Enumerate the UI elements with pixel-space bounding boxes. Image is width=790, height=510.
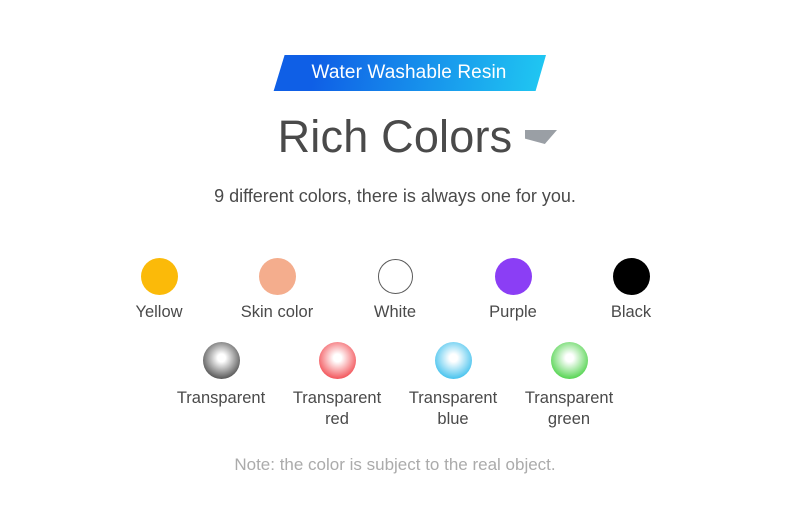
solid-colors-row: Yellow Skin color White Purple Black: [0, 258, 790, 323]
color-label: Yellow: [135, 302, 182, 323]
color-dot-black: [613, 258, 650, 295]
color-label: Transparent green: [525, 388, 613, 430]
color-dot-transparent-red: [319, 342, 356, 379]
color-swatch-skin-color[interactable]: Skin color: [218, 258, 336, 323]
color-dot-transparent-green: [551, 342, 588, 379]
color-dot-skin-color: [259, 258, 296, 295]
color-dot-purple: [495, 258, 532, 295]
color-label: Transparent red: [293, 388, 381, 430]
color-label: Transparent blue: [409, 388, 497, 430]
color-label: Black: [611, 302, 651, 323]
color-dot-transparent: [203, 342, 240, 379]
page-title: Rich Colors: [0, 110, 790, 164]
banner-title: Water Washable Resin: [272, 55, 546, 91]
color-dot-yellow: [141, 258, 178, 295]
color-swatch-purple[interactable]: Purple: [454, 258, 572, 323]
product-banner: Water Washable Resin: [272, 55, 546, 91]
color-swatch-transparent[interactable]: Transparent: [163, 342, 279, 430]
color-label: Transparent: [177, 388, 265, 409]
color-dot-white: [378, 259, 413, 294]
color-swatch-transparent-green[interactable]: Transparent green: [511, 342, 627, 430]
disclaimer-note: Note: the color is subject to the real o…: [0, 454, 790, 476]
transparent-colors-row: Transparent Transparent red Transparent …: [0, 342, 790, 430]
banner-region: Water Washable Resin: [0, 52, 790, 98]
color-swatch-yellow[interactable]: Yellow: [100, 258, 218, 323]
color-dot-transparent-blue: [435, 342, 472, 379]
color-label: White: [374, 302, 416, 323]
color-swatch-transparent-blue[interactable]: Transparent blue: [395, 342, 511, 430]
color-swatch-transparent-red[interactable]: Transparent red: [279, 342, 395, 430]
color-swatch-white[interactable]: White: [336, 258, 454, 323]
page-subtitle: 9 different colors, there is always one …: [0, 184, 790, 208]
color-label: Skin color: [241, 302, 313, 323]
color-swatch-black[interactable]: Black: [572, 258, 690, 323]
color-label: Purple: [489, 302, 537, 323]
